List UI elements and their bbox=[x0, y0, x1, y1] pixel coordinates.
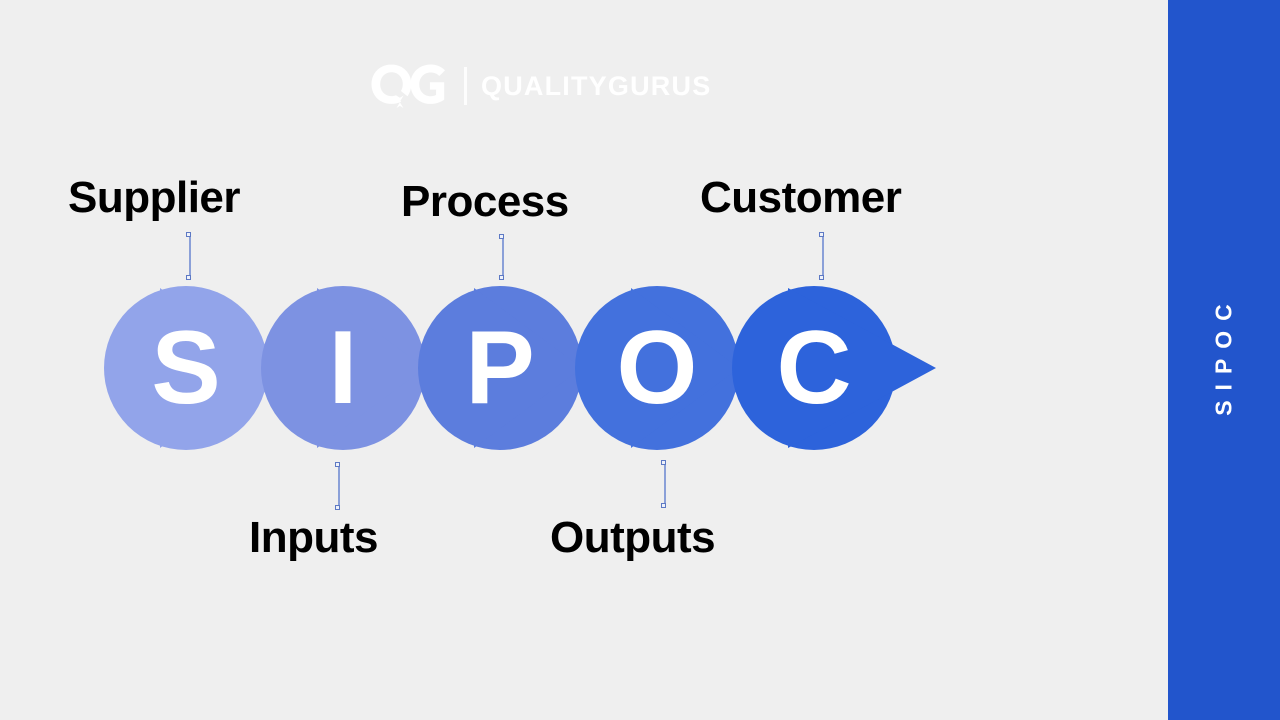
connector-inputs bbox=[334, 462, 343, 510]
connector-handle-top bbox=[661, 460, 666, 465]
connector-handle-top bbox=[186, 232, 191, 237]
label-process: Process bbox=[401, 180, 569, 224]
label-supplier: Supplier bbox=[68, 176, 240, 220]
brand-logo: QUALITYGURUS bbox=[368, 62, 711, 110]
connector-handle-top bbox=[499, 234, 504, 239]
connector-customer bbox=[818, 232, 827, 280]
connector-handle-top bbox=[335, 462, 340, 467]
label-outputs: Outputs bbox=[550, 516, 715, 560]
connector-handle-bottom bbox=[186, 275, 191, 280]
connector-process bbox=[498, 234, 507, 280]
sipoc-segment-supplier: S bbox=[104, 286, 268, 450]
segment-letter-p: P bbox=[465, 310, 534, 426]
sipoc-segments: S I P O C bbox=[104, 286, 936, 450]
connector-stem bbox=[338, 465, 340, 507]
sipoc-segment-outputs: O bbox=[575, 286, 739, 450]
connector-handle-bottom bbox=[819, 275, 824, 280]
connector-handle-bottom bbox=[499, 275, 504, 280]
sipoc-segment-process: P bbox=[418, 286, 582, 450]
sidebar-title-vertical: SIPOC bbox=[1211, 294, 1238, 426]
right-sidebar: SIPOC bbox=[1168, 0, 1280, 720]
connector-handle-bottom bbox=[335, 505, 340, 510]
segment-letter-i: I bbox=[329, 310, 358, 426]
connector-handle-top bbox=[819, 232, 824, 237]
connector-stem bbox=[502, 237, 504, 277]
label-inputs: Inputs bbox=[249, 516, 378, 560]
logo-divider bbox=[464, 67, 467, 105]
connector-supplier bbox=[185, 232, 194, 280]
segment-letter-o: O bbox=[617, 310, 698, 426]
connector-stem bbox=[822, 235, 824, 277]
connector-stem bbox=[189, 235, 191, 277]
sipoc-slide: SIPOC QUALITYGURUS S I bbox=[0, 0, 1280, 720]
connector-stem bbox=[664, 463, 666, 505]
connector-handle-bottom bbox=[661, 503, 666, 508]
connector-outputs bbox=[660, 460, 669, 508]
segment-shape-s bbox=[104, 286, 268, 450]
sipoc-segment-inputs: I bbox=[261, 286, 425, 450]
segment-letter-c: C bbox=[776, 310, 851, 426]
sipoc-segment-customer: C bbox=[732, 286, 936, 450]
segment-letter-s: S bbox=[151, 310, 220, 426]
qg-monogram-icon bbox=[368, 62, 460, 110]
label-customer: Customer bbox=[700, 176, 901, 220]
logo-wordmark: QUALITYGURUS bbox=[481, 73, 711, 100]
